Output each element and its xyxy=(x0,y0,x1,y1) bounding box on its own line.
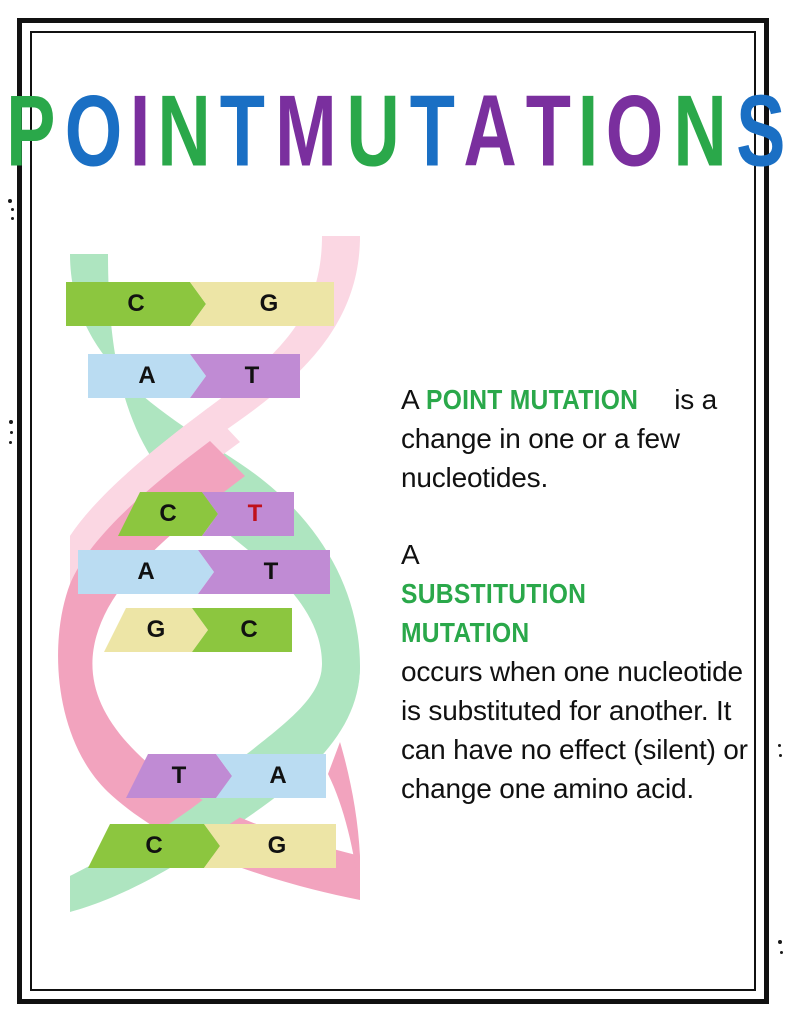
scan-speck xyxy=(9,441,12,444)
title-letter-a-9: A xyxy=(464,81,518,182)
nucleotide-left: A xyxy=(78,550,214,594)
title-letter-m-6: M xyxy=(275,81,337,182)
nucleotide-letter: A xyxy=(137,558,154,586)
nucleotide-letter: G xyxy=(260,290,279,318)
nucleotide-letter: C xyxy=(127,290,144,318)
poster-page: POINTMUTATIONS C G xyxy=(0,0,792,1025)
scan-speck xyxy=(778,744,781,747)
nucleotide-letter: C xyxy=(159,500,176,528)
nucleotide-letter: G xyxy=(268,832,287,860)
base-pair-row: C G xyxy=(88,824,336,868)
title-letter-p-0: P xyxy=(6,81,56,182)
base-pair-row: G C xyxy=(104,608,292,652)
scan-speck xyxy=(9,420,13,424)
dna-double-helix-diagram: C G A T C T A xyxy=(40,236,390,920)
nucleotide-letter: A xyxy=(269,762,286,790)
title-letter-o-1: O xyxy=(65,81,123,182)
title-letter-t-8: T xyxy=(409,81,455,182)
nucleotide-letter: G xyxy=(147,616,166,644)
title-letter-t-4: T xyxy=(220,81,266,182)
title-letter-o-12: O xyxy=(605,81,663,182)
paragraph-lead: A xyxy=(401,384,426,415)
nucleotide-letter-mutated: T xyxy=(248,500,263,528)
nucleotide-right: T xyxy=(190,354,300,398)
nucleotide-left: T xyxy=(126,754,232,798)
title-letter-t-10: T xyxy=(526,81,572,182)
scan-speck xyxy=(10,431,13,434)
scan-speck xyxy=(779,754,782,757)
scan-speck xyxy=(11,208,14,211)
nucleotide-letter: A xyxy=(138,362,155,390)
nucleotide-right: G xyxy=(190,282,334,326)
base-pair-row: A T xyxy=(78,550,330,594)
nucleotide-left: C xyxy=(66,282,206,326)
scan-speck xyxy=(8,199,12,203)
nucleotide-letter: T xyxy=(245,362,260,390)
page-title: POINTMUTATIONS xyxy=(46,86,746,182)
base-pair-row: C G xyxy=(66,282,334,326)
nucleotide-letter: T xyxy=(264,558,279,586)
nucleotide-left: C xyxy=(118,492,218,536)
nucleotide-left: C xyxy=(88,824,220,868)
scan-speck xyxy=(11,217,14,220)
paragraph-lead: A xyxy=(401,539,418,570)
nucleotide-right: G xyxy=(204,824,336,868)
nucleotide-right: T xyxy=(198,550,330,594)
nucleotide-letter: C xyxy=(240,616,257,644)
title-letter-i-11: I xyxy=(577,81,598,182)
nucleotide-left: G xyxy=(104,608,208,652)
keyword-substitution-mutation: SUBSTITUTION MUTATION xyxy=(401,574,707,652)
title-letter-n-3: N xyxy=(158,81,212,182)
nucleotide-letter: C xyxy=(145,832,162,860)
title-letter-s-14: S xyxy=(736,81,786,182)
nucleotide-letter: T xyxy=(172,762,187,790)
title-letter-u-7: U xyxy=(347,81,401,182)
paragraph-rest: occurs when one nucleotide is substitute… xyxy=(401,656,748,804)
definitions-text-column: A POINT MUTATION is a change in one or a… xyxy=(401,352,749,836)
scan-speck xyxy=(778,940,782,944)
substitution-mutation-definition: A SUBSTITUTION MUTATION occurs when one … xyxy=(401,535,749,808)
nucleotide-left: A xyxy=(88,354,206,398)
base-pair-row: T A xyxy=(126,754,326,798)
base-pair-row-mutation: C T xyxy=(118,492,294,536)
nucleotide-right: A xyxy=(216,754,326,798)
keyword-point-mutation: POINT MUTATION xyxy=(426,380,638,419)
scan-speck xyxy=(780,951,783,954)
point-mutation-definition: A POINT MUTATION is a change in one or a… xyxy=(401,380,749,497)
title-letter-n-13: N xyxy=(673,81,727,182)
title-letter-i-2: I xyxy=(130,81,151,182)
base-pair-row: A T xyxy=(88,354,300,398)
